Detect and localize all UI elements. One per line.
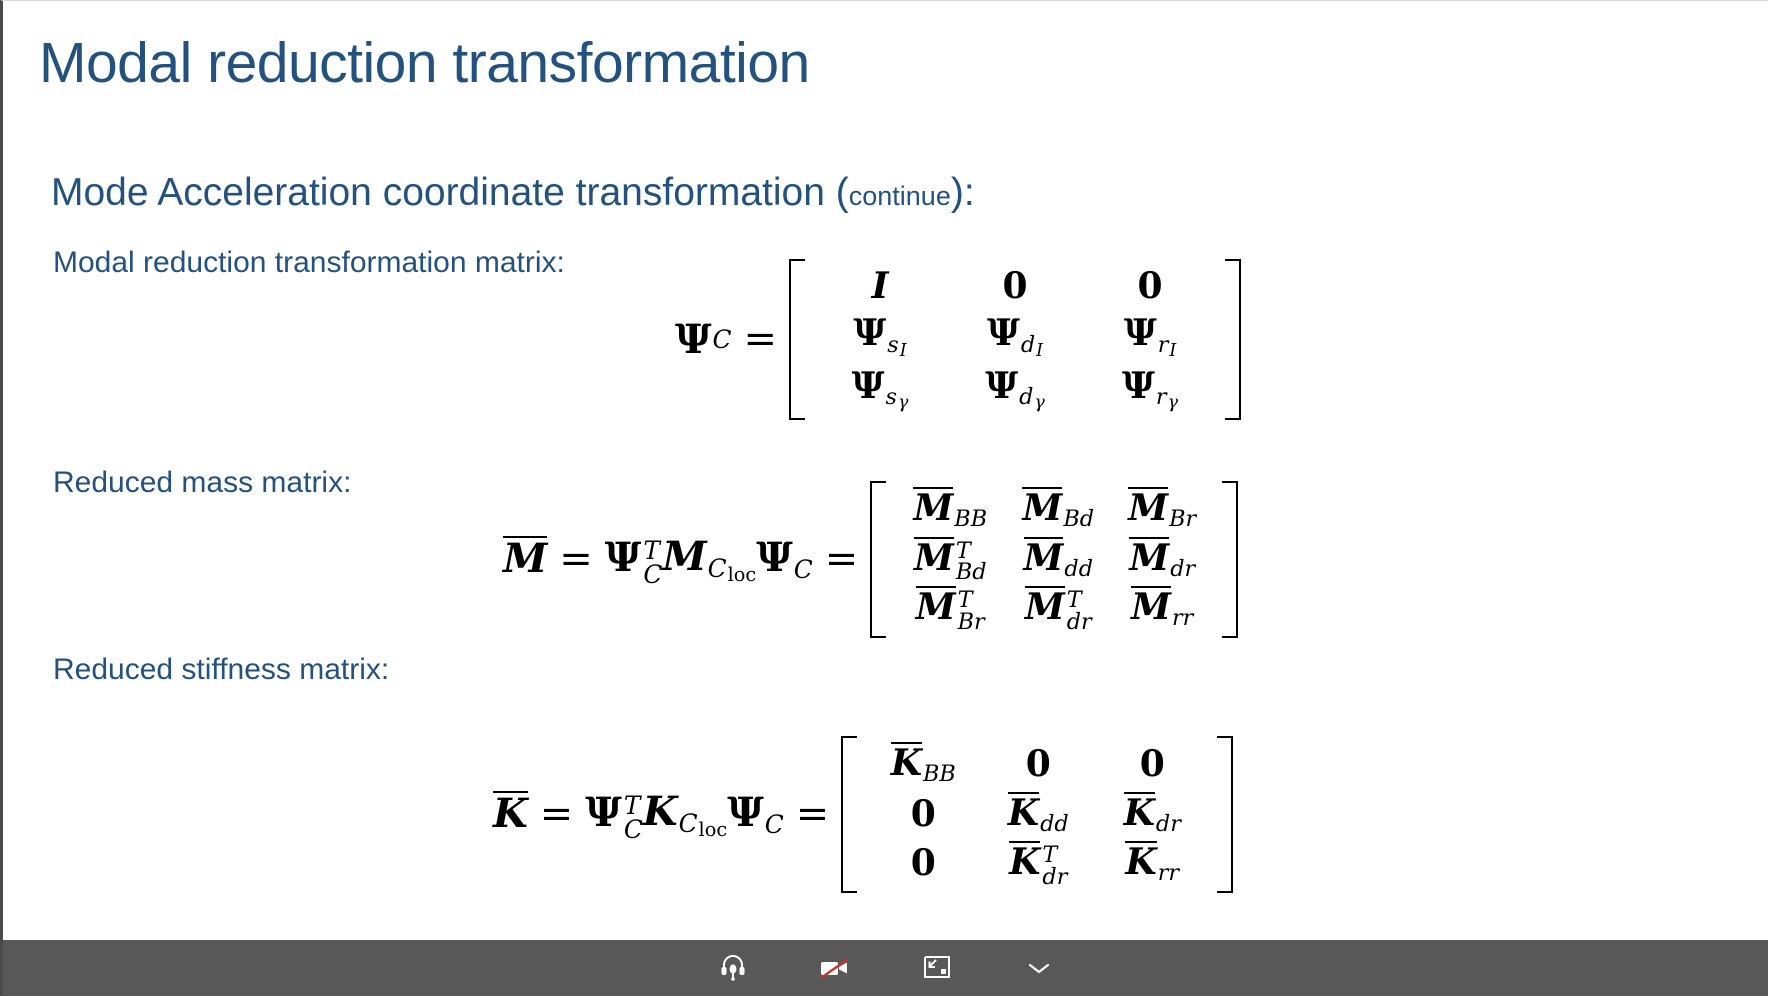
video-toggle-button[interactable] [813, 948, 857, 988]
matrix-cell: 0 [911, 791, 936, 838]
more-options-button[interactable] [1017, 948, 1061, 988]
subscript: Cloc [679, 809, 728, 841]
math-base: 0 [911, 842, 936, 884]
subtitle-main-text: Mode Acceleration coordinate transformat… [51, 171, 849, 214]
nested-subscript: I [900, 341, 907, 362]
math-term: ΨC [756, 534, 813, 584]
subscript: sI [887, 332, 906, 361]
math-term: I [872, 265, 889, 308]
matrix-cell: 0 [1026, 741, 1051, 788]
overline-accent: M [1022, 487, 1062, 527]
overline-accent: M [1129, 537, 1169, 577]
subscript: rr [1172, 605, 1193, 631]
bracket-right [1217, 736, 1233, 893]
subscript: rI [1158, 332, 1177, 361]
math-term: K [493, 791, 528, 837]
math-term: Ψrγ [1122, 365, 1178, 414]
overline-accent: M [503, 536, 547, 579]
equals-sign: = [744, 316, 778, 362]
math-term: MTBd [914, 537, 987, 582]
matrix-cell: Kdd [1008, 790, 1069, 840]
matrix-cell: MTBd [914, 535, 987, 584]
math-term: Kdr [1124, 792, 1181, 838]
label-reduced-stiffness-matrix: Reduced stiffness matrix: [53, 653, 389, 687]
matrix-cell: MTdr [1025, 584, 1092, 633]
chevron-down-icon [1026, 960, 1052, 976]
matrix-grid: MBBMBdMBrMTBdMddMdrMTBrMTdrMrr [886, 481, 1222, 638]
math-term: M [503, 536, 547, 582]
overline-accent: K [1125, 841, 1156, 881]
bracket-left [841, 736, 857, 893]
bracket-right [1225, 259, 1241, 420]
subscript: BB [923, 761, 956, 787]
subscript: dr [1156, 811, 1181, 837]
math-term: ΨC [727, 789, 784, 839]
presentation-slide: Modal reduction transformation Mode Acce… [0, 0, 1768, 996]
math-base: M [1022, 487, 1062, 529]
slide-subtitle: Mode Acceleration coordinate transformat… [51, 171, 975, 215]
equation-lhs: ΨC = [675, 316, 789, 363]
overline-accent: K [891, 742, 922, 782]
sub-sup-cluster: TBr [958, 590, 985, 632]
equation-reduced-mass-matrix: M=ΨTCMClocΨC= MBBMBdMBrMTBdMddMdrMTBrMTd… [503, 481, 1238, 638]
math-term: KCloc [643, 788, 727, 841]
sub-sup-cluster: Tdr [1067, 590, 1092, 632]
math-term: KTdr [1009, 841, 1067, 886]
math-base: Ψ [852, 365, 885, 407]
matrix-cell: MBB [913, 485, 987, 535]
math-term: MBB [913, 487, 987, 533]
subscript: rr [1158, 860, 1179, 886]
math-term: Ψdγ [985, 365, 1045, 414]
subscript: C [765, 810, 784, 839]
math-term: KBB [891, 742, 956, 788]
matrix-cell: Mdr [1129, 535, 1195, 585]
math-term: Ψsγ [852, 365, 909, 414]
matrix-grid: I00ΨsIΨdIΨrIΨsγΨdγΨrγ [805, 259, 1225, 420]
overline-accent: M [916, 586, 956, 626]
math-base: K [1009, 841, 1040, 883]
meeting-toolbar [3, 940, 1768, 996]
psi-subscript: C [713, 325, 732, 354]
subscript: Cloc [708, 554, 757, 586]
matrix-cell: Ψdγ [985, 363, 1045, 416]
math-term: ΨrI [1124, 312, 1176, 361]
operator: = [540, 791, 574, 837]
math-base: 0 [911, 793, 936, 835]
subscript: rγ [1156, 384, 1178, 413]
matrix-cell: ΨsI [853, 310, 906, 363]
math-term: MCloc [662, 533, 756, 586]
share-screen-icon [923, 955, 951, 981]
math-base: M [662, 533, 706, 580]
matrix-cell: Krr [1125, 839, 1179, 889]
math-base: M [914, 537, 954, 579]
math-base: K [643, 788, 678, 835]
matrix-cell: KTdr [1009, 839, 1067, 888]
sub-sup-cluster: TC [643, 539, 662, 586]
overline-accent: K [1124, 792, 1155, 832]
matrix-cell: 0 [1003, 263, 1028, 310]
matrix-cell: 0 [1138, 263, 1163, 310]
subscript: Br [1169, 506, 1196, 532]
matrix-cell: 0 [1140, 741, 1165, 788]
bracket-left [789, 259, 805, 420]
matrix-cell: Mrr [1131, 584, 1193, 634]
subscript: BB [954, 506, 987, 532]
page-title: Modal reduction transformation [39, 34, 810, 94]
overline-accent: M [913, 487, 953, 527]
math-base: K [1008, 792, 1039, 834]
math-term: MBr [1128, 487, 1196, 533]
subscript: Bd [1063, 506, 1094, 532]
math-base: Ψ [585, 789, 622, 836]
math-base: Ψ [853, 312, 886, 354]
operator: = [796, 791, 830, 837]
overline-accent: K [1009, 841, 1040, 881]
math-base: 0 [1140, 743, 1165, 785]
share-screen-button[interactable] [915, 948, 959, 988]
math-base: M [503, 535, 547, 582]
nested-subscript: loc [728, 563, 757, 586]
nested-subscript: γ [1168, 393, 1178, 414]
matrix-cell: KBB [891, 740, 956, 790]
subscript: dd [1040, 811, 1069, 837]
nested-subscript: γ [1034, 393, 1044, 414]
bracket-left [870, 481, 886, 638]
psi-symbol: Ψ [675, 316, 712, 363]
subscript: dI [1021, 332, 1043, 361]
sub-sup-cluster: Tdr [1042, 845, 1067, 887]
math-term: Krr [1125, 841, 1179, 887]
matrix-cell: ΨdI [987, 310, 1043, 363]
math-term: MBd [1022, 487, 1094, 533]
camera-off-icon [819, 955, 851, 981]
sub-sup-cluster: TBd [956, 541, 987, 583]
audio-button[interactable] [711, 948, 755, 988]
bracket-right [1222, 481, 1238, 638]
math-term: ΨTC [605, 534, 663, 585]
equation-lhs: M=ΨTCMClocΨC= [503, 533, 870, 586]
subtitle-tail-text: ): [951, 171, 975, 214]
overline-accent: M [914, 537, 954, 577]
equation-reduced-stiffness-matrix: K=ΨTCKClocΨC= KBB000KddKdr0KTdrKrr [493, 736, 1233, 893]
math-base: Ψ [1124, 312, 1157, 354]
overline-accent: M [1024, 537, 1064, 577]
math-term: 0 [911, 842, 936, 885]
subscript: dd [1064, 556, 1093, 582]
math-base: K [891, 742, 922, 784]
label-reduced-mass-matrix: Reduced mass matrix: [53, 466, 351, 500]
nested-subscript: loc [699, 818, 728, 841]
math-term: 0 [911, 793, 936, 836]
math-term: 0 [1003, 265, 1028, 308]
matrix-cell: Ψrγ [1122, 363, 1178, 416]
matrix-cell: I [872, 263, 889, 310]
math-base: 0 [1026, 743, 1051, 785]
math-base: M [1025, 586, 1065, 628]
matrix-cell: Kdr [1124, 790, 1181, 840]
math-term: 0 [1138, 265, 1163, 308]
math-base: M [1131, 586, 1171, 628]
math-term: ΨsI [853, 312, 906, 361]
matrix-cell: MBr [1128, 485, 1196, 535]
math-term: Mrr [1131, 586, 1193, 632]
subtitle-continue-text: continue [849, 181, 951, 211]
matrix-grid: KBB000KddKdr0KTdrKrr [857, 736, 1217, 893]
label-transformation-matrix: Modal reduction transformation matrix: [53, 246, 565, 280]
math-base: Ψ [727, 789, 764, 836]
math-base: I [872, 265, 889, 307]
math-base: M [916, 586, 956, 628]
math-base: Ψ [756, 534, 793, 581]
math-term: ΨTC [585, 789, 643, 840]
equation-lhs: K=ΨTCKClocΨC= [493, 788, 841, 841]
math-term: 0 [1026, 743, 1051, 786]
overline-accent: K [1008, 792, 1039, 832]
matrix-reduced-stiffness: KBB000KddKdr0KTdrKrr [841, 736, 1233, 893]
subscript: dr [1170, 556, 1195, 582]
math-term: Kdd [1008, 792, 1069, 838]
subscript: dγ [1019, 384, 1045, 413]
math-base: 0 [1138, 265, 1163, 307]
math-base: K [493, 790, 528, 837]
overline-accent: K [493, 791, 528, 834]
operator: = [825, 536, 859, 582]
matrix-cell: Mdd [1024, 535, 1093, 585]
math-base: Ψ [605, 534, 642, 581]
sub-sup-cluster: TC [624, 794, 643, 841]
math-base: Ψ [1122, 365, 1155, 407]
overline-accent: M [1131, 586, 1171, 626]
math-base: M [913, 487, 953, 529]
nested-subscript: I [1036, 341, 1043, 362]
math-term: MTBr [916, 586, 985, 631]
slide-content-area: Modal reduction transformation Mode Acce… [3, 1, 1768, 940]
math-term: MTdr [1025, 586, 1092, 631]
math-base: Ψ [987, 312, 1020, 354]
matrix-cell: Ψsγ [852, 363, 909, 416]
math-base: M [1129, 537, 1169, 579]
headset-microphone-icon [720, 954, 746, 982]
nested-subscript: I [1169, 341, 1176, 362]
nested-subscript: γ [898, 393, 908, 414]
math-base: K [1124, 792, 1155, 834]
matrix-cell: MTBr [916, 584, 985, 633]
overline-accent: M [1025, 586, 1065, 626]
matrix-reduced-mass: MBBMBdMBrMTBdMddMdrMTBrMTdrMrr [870, 481, 1238, 638]
matrix-cell: ΨrI [1124, 310, 1176, 363]
equation-modal-reduction-transformation: ΨC = I00ΨsIΨdIΨrIΨsγΨdγΨrγ [675, 259, 1241, 420]
math-base: K [1125, 841, 1156, 883]
math-base: Ψ [985, 365, 1018, 407]
overline-accent: M [1128, 487, 1168, 527]
math-base: M [1024, 537, 1064, 579]
matrix-cell: 0 [911, 840, 936, 887]
math-base: 0 [1003, 265, 1028, 307]
math-term: Mdr [1129, 537, 1195, 583]
subscript: C [794, 555, 813, 584]
math-term: ΨdI [987, 312, 1043, 361]
math-term: 0 [1140, 743, 1165, 786]
matrix-cell: MBd [1022, 485, 1094, 535]
operator: = [559, 536, 593, 582]
math-base: M [1128, 487, 1168, 529]
matrix-transformation: I00ΨsIΨdIΨrIΨsγΨdγΨrγ [789, 259, 1241, 420]
subscript: sγ [886, 384, 909, 413]
math-term: Mdd [1024, 537, 1093, 583]
